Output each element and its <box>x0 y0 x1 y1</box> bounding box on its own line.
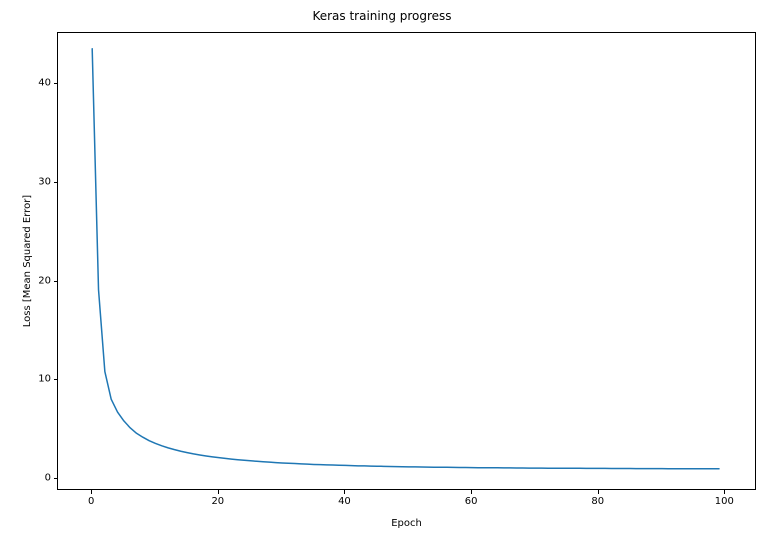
x-tick-mark <box>344 490 345 494</box>
loss-line <box>92 49 719 469</box>
y-axis-label: Loss [Mean Squared Error] <box>22 32 33 490</box>
y-tick-mark <box>54 182 58 183</box>
y-tick-mark <box>54 83 58 84</box>
x-tick-mark <box>724 490 725 494</box>
x-tick-mark <box>91 490 92 494</box>
y-tick-mark <box>54 281 58 282</box>
x-tick-label: 20 <box>211 496 224 507</box>
loss-curve-svg <box>58 33 757 491</box>
x-tick-label: 0 <box>88 496 94 507</box>
x-tick-label: 80 <box>591 496 604 507</box>
chart-title: Keras training progress <box>0 8 764 24</box>
x-tick-label: 40 <box>338 496 351 507</box>
x-tick-label: 60 <box>465 496 478 507</box>
x-tick-mark <box>471 490 472 494</box>
x-tick-mark <box>218 490 219 494</box>
y-tick-mark <box>54 379 58 380</box>
matplotlib-figure: Keras training progress 0204060801000102… <box>0 0 764 547</box>
x-tick-label: 100 <box>715 496 734 507</box>
plot-axes <box>57 32 756 490</box>
y-tick-mark <box>54 478 58 479</box>
x-tick-mark <box>598 490 599 494</box>
x-axis-label: Epoch <box>57 518 756 529</box>
